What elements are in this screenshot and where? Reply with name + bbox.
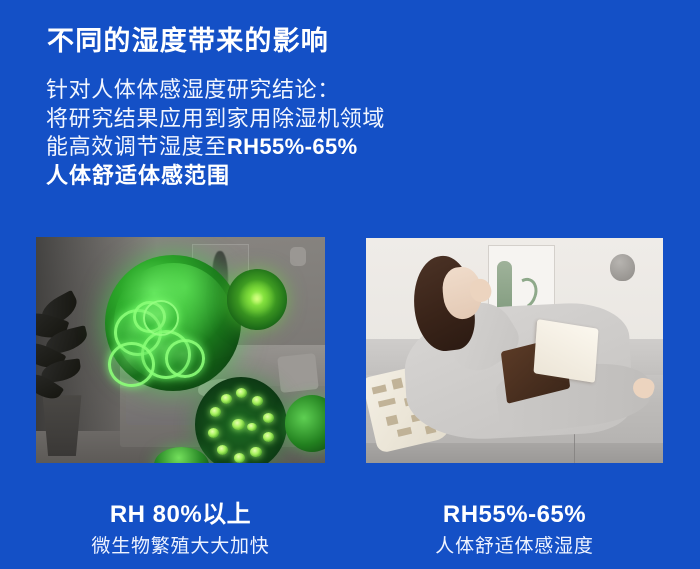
caption-comfort-humidity: RH55%-65% 人体舒适体感湿度: [366, 500, 663, 560]
caption-title: RH 80%以上: [36, 500, 325, 530]
caption-subtitle: 人体舒适体感湿度: [366, 534, 663, 560]
photo-high-humidity: [36, 237, 325, 463]
intro-line-4: 人体舒适体感范围: [46, 162, 506, 191]
wall-speaker: [290, 247, 306, 266]
open-book-right-page: [534, 319, 599, 383]
microbe-sphere-virus: [195, 377, 287, 463]
intro-line-3: 能高效调节湿度至RH55%-65%: [46, 133, 506, 162]
intro-copy-block: 针对人体体感湿度研究结论： 将研究结果应用到家用除湿机领域 能高效调节湿度至RH…: [46, 76, 506, 190]
photo-comfort-humidity: [366, 238, 663, 463]
sofa-cushion: [277, 353, 318, 393]
microbe-sphere-medium: [227, 269, 288, 330]
intro-line-3-text: 能高效调节湿度至: [46, 134, 227, 159]
wall-speaker: [610, 254, 635, 281]
caption-title: RH55%-65%: [366, 500, 663, 530]
caption-high-humidity: RH 80%以上 微生物繁殖大大加快: [36, 500, 325, 560]
humidity-comparison-poster: 不同的湿度带来的影响 针对人体体感湿度研究结论： 将研究结果应用到家用除湿机领域…: [0, 0, 700, 569]
humidity-range-highlight: RH55%-65%: [227, 134, 358, 159]
page-title: 不同的湿度带来的影响: [47, 19, 329, 58]
intro-line-1: 针对人体体感湿度研究结论：: [46, 76, 506, 105]
caption-subtitle: 微生物繁殖大大加快: [36, 534, 325, 560]
mold-room-scene: [36, 237, 325, 463]
microbe-sphere-small: [143, 300, 179, 336]
comfort-room-scene: [366, 238, 663, 463]
house-plant: [36, 296, 105, 409]
intro-line-2: 将研究结果应用到家用除湿机领域: [46, 105, 506, 134]
